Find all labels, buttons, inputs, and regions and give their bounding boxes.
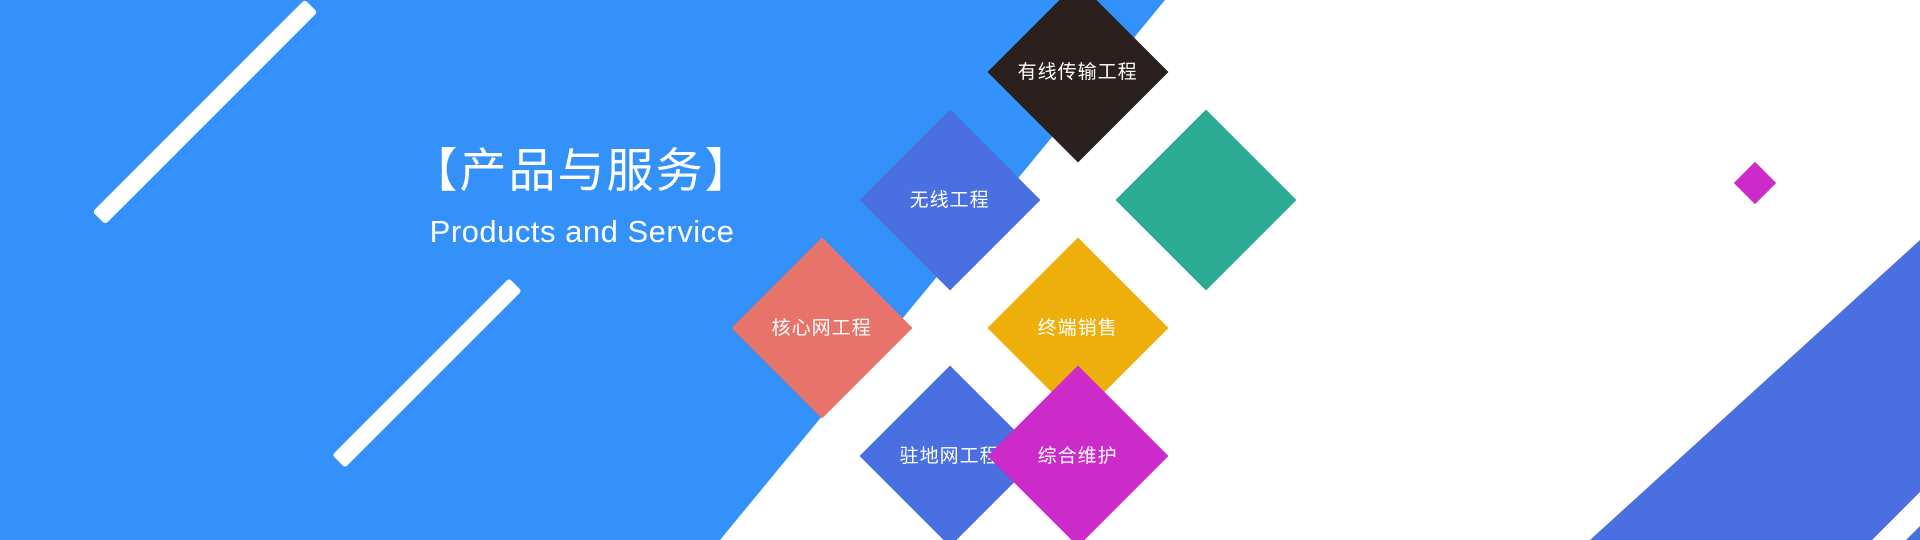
service-tile-integrated-maintenance[interactable]: 综合维护 bbox=[987, 365, 1168, 540]
service-tile-label: 有线传输工程 bbox=[1018, 62, 1138, 81]
service-diamond-mosaic: 核心网工程无线工程有线传输工程终端销售驻地网工程综合维护 bbox=[718, 104, 1328, 474]
service-tile-label: 综合维护 bbox=[1038, 446, 1118, 465]
corner-wedge-stripe bbox=[1867, 290, 1920, 540]
service-tile-core-network[interactable]: 核心网工程 bbox=[731, 237, 912, 418]
corner-wedge-decoration bbox=[1590, 240, 1920, 540]
service-tile-label: 无线工程 bbox=[910, 190, 990, 209]
service-tile-label: 驻地网工程 bbox=[900, 446, 1000, 465]
service-tile-label: 终端销售 bbox=[1038, 318, 1118, 337]
accent-diamond-icon bbox=[1734, 162, 1776, 204]
service-tile-label: 核心网工程 bbox=[772, 318, 872, 337]
products-and-service-banner: 【产品与服务】 Products and Service 核心网工程无线工程有线… bbox=[0, 0, 1920, 540]
service-tile-teal-accent[interactable] bbox=[1115, 109, 1296, 290]
service-tile-wireless[interactable]: 无线工程 bbox=[859, 109, 1040, 290]
